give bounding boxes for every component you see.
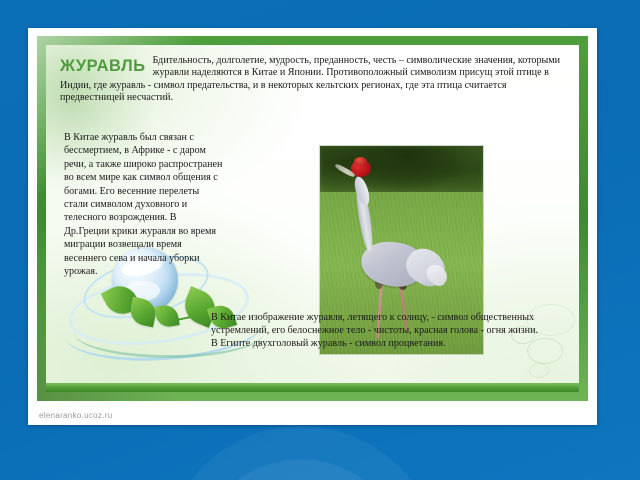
bottom-paragraph-2: В Египте двухголовый журавль - символ пр… (211, 337, 579, 350)
bottom-green-band (46, 383, 579, 392)
bottom-paragraph-1: В Китае изображение журавля, летящего к … (211, 311, 579, 337)
page-title: ЖУРАВЛЬ (60, 57, 146, 75)
slide-inner-canvas: ЖУРАВЛЬ Бдительность, долголетие, мудрос… (46, 45, 579, 392)
bottom-paragraph-group: В Китае изображение журавля, летящего к … (211, 311, 579, 351)
watermark-text: elenaranko.ucoz.ru (39, 411, 112, 420)
presentation-slide: ЖУРАВЛЬ Бдительность, долголетие, мудрос… (28, 28, 597, 425)
left-paragraph: В Китае журавль был связан с бессмертием… (64, 131, 224, 278)
slide-green-frame: ЖУРАВЛЬ Бдительность, долголетие, мудрос… (37, 36, 588, 401)
